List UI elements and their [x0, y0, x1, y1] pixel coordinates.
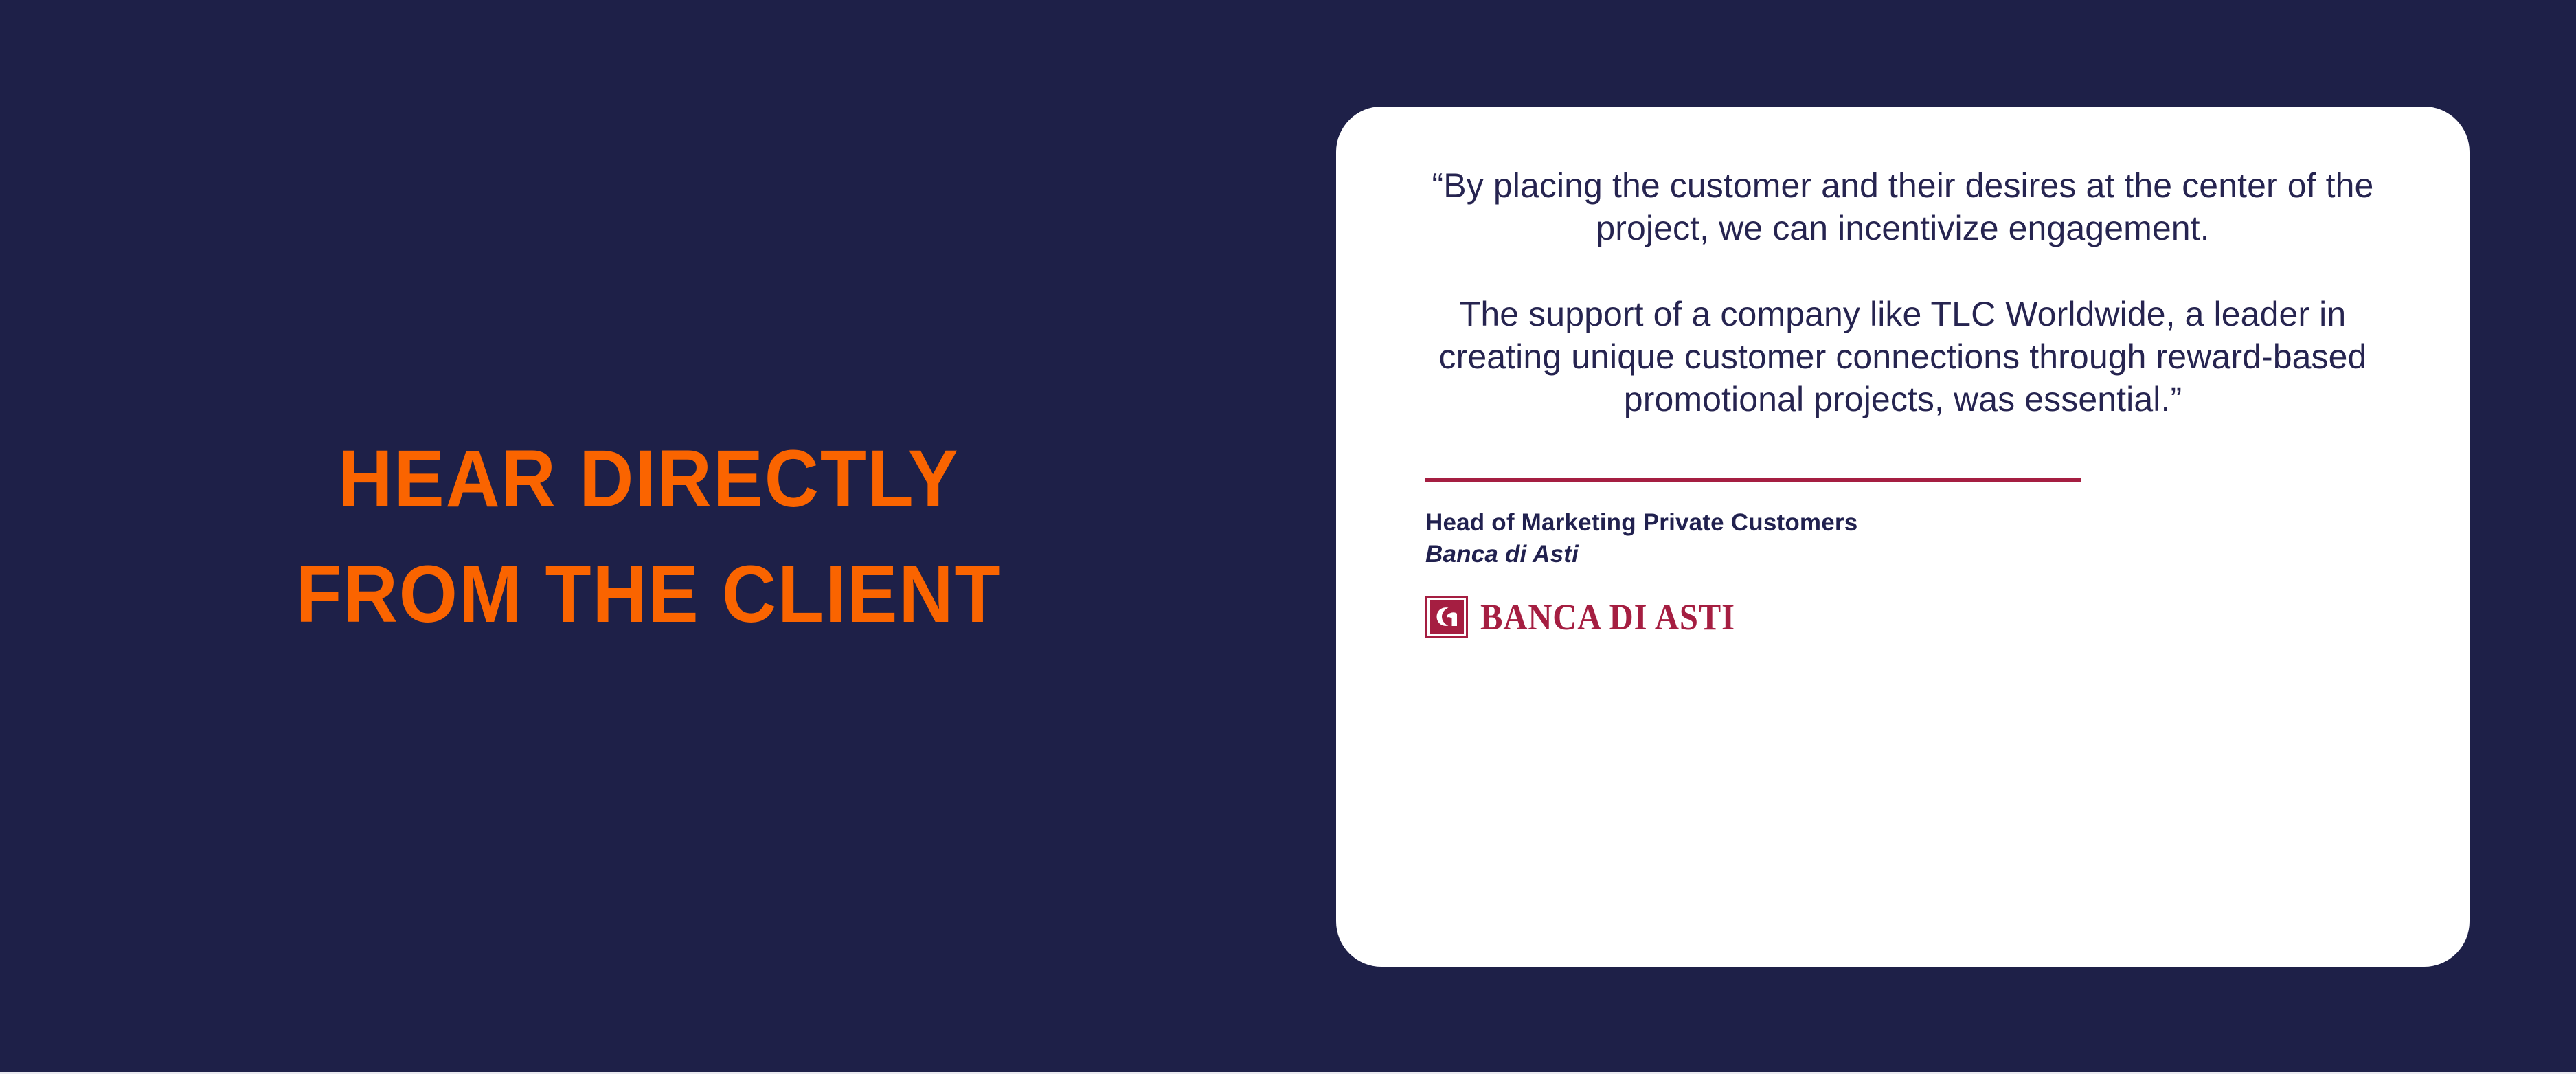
quote-card: “By placing the customer and their desir…	[1336, 107, 2470, 967]
bank-logo: BANCA DI ASTI	[1425, 596, 2386, 638]
attribution-role: Head of Marketing Private Customers	[1425, 507, 2386, 539]
headline-column: HEAR DIRECTLY FROM THE CLIENT	[0, 0, 1298, 1074]
bank-logo-wordmark: BANCA DI ASTI	[1480, 598, 1735, 636]
attribution: Head of Marketing Private Customers Banc…	[1420, 478, 2386, 638]
quote-paragraph-1: “By placing the customer and their desir…	[1420, 164, 2386, 250]
attribution-divider	[1425, 478, 2081, 482]
banca-di-asti-mark-icon	[1425, 596, 1468, 638]
testimonial-slide: HEAR DIRECTLY FROM THE CLIENT “By placin…	[0, 0, 2576, 1074]
headline-line-1: HEAR DIRECTLY	[296, 422, 1002, 537]
attribution-company: Banca di Asti	[1425, 539, 2386, 570]
page-title: HEAR DIRECTLY FROM THE CLIENT	[296, 422, 1002, 652]
headline-line-2: FROM THE CLIENT	[296, 537, 1002, 653]
quote-paragraph-2: The support of a company like TLC Worldw…	[1420, 293, 2386, 421]
quote-text: “By placing the customer and their desir…	[1420, 164, 2386, 421]
